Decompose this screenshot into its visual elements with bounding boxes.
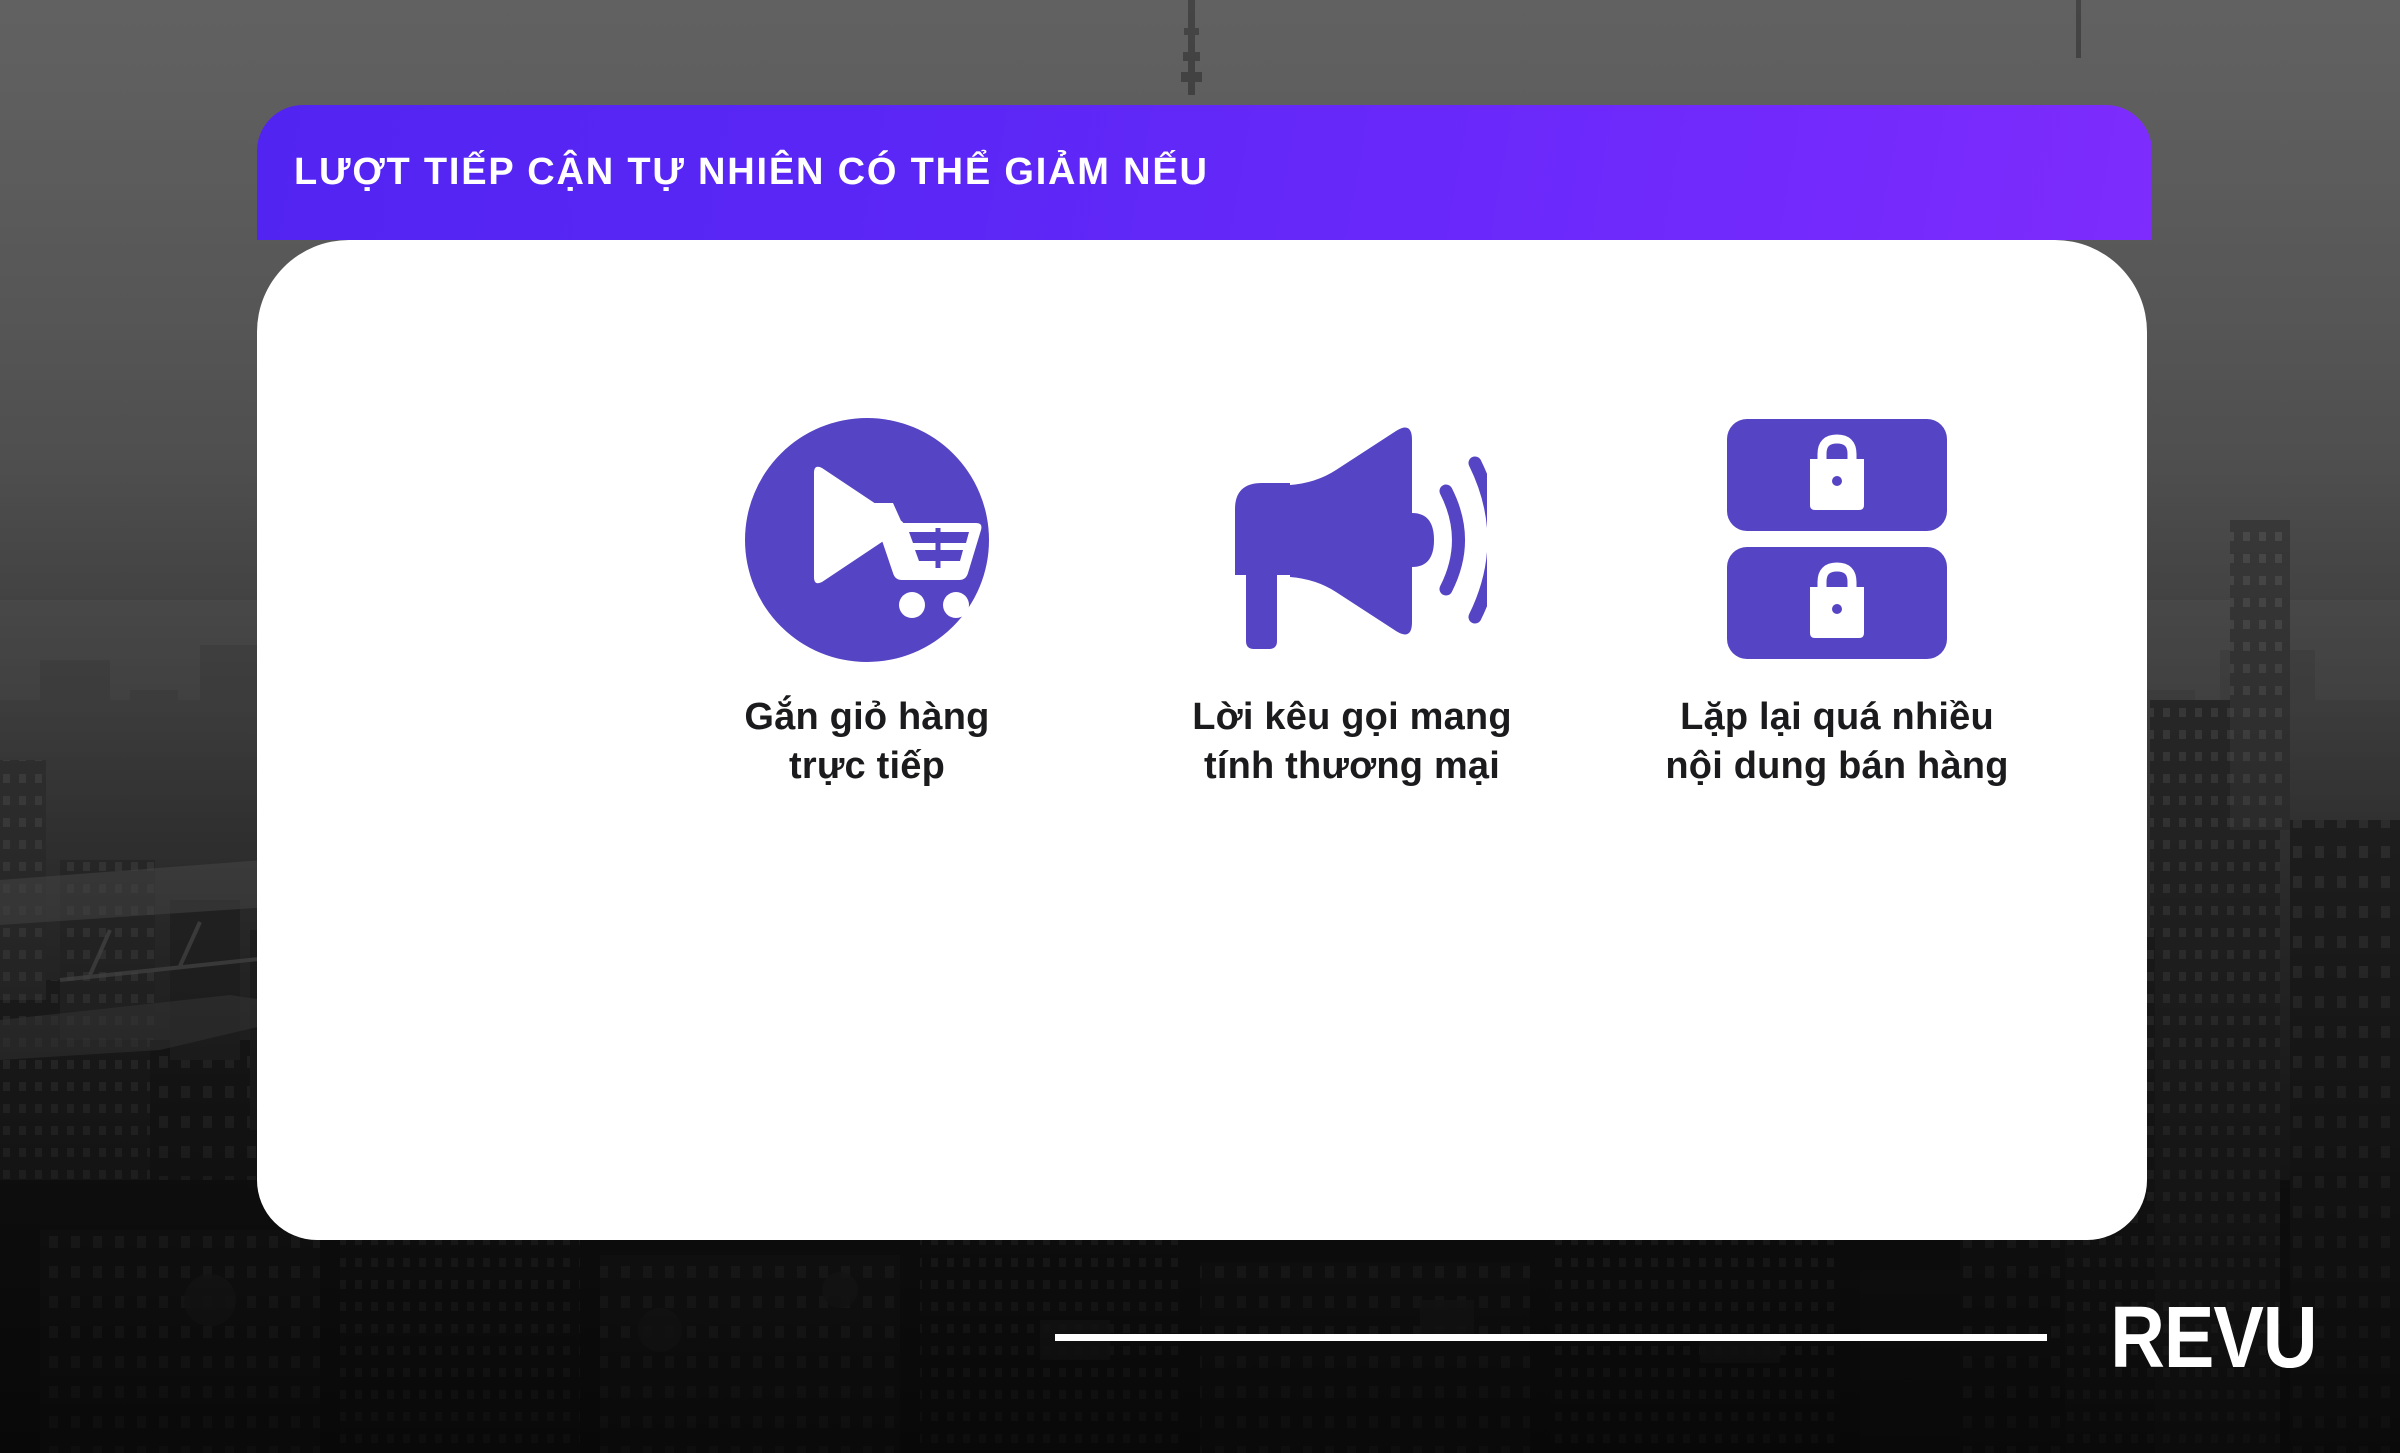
feature-item-commercial-cta: Lời kêu gọi mang tính thương mại [1142,395,1562,790]
page-title: LƯỢT TIẾP CẬN TỰ NHIÊN CÓ THỂ GIẢM NẾU [257,151,1209,194]
play-cart-icon [742,395,992,685]
feature-list: Gắn giỏ hàng trực tiếp [657,395,2047,790]
card-header-bar: LƯỢT TIẾP CẬN TỰ NHIÊN CÓ THỂ GIẢM NẾU [257,105,2152,240]
feature-label: Gắn giỏ hàng trực tiếp [702,693,1032,790]
feature-item-repeated-sales-content: Lặp lại quá nhiều nội dung bán hàng [1627,395,2047,790]
feature-label: Lặp lại quá nhiều nội dung bán hàng [1627,693,2047,790]
content-card: LƯỢT TIẾP CẬN TỰ NHIÊN CÓ THỂ GIẢM NẾU [257,105,2152,1240]
card-body: Gắn giỏ hàng trực tiếp [257,240,2147,1240]
stacked-shopping-bags-icon [1722,395,1952,685]
footer-divider-rule [1055,1334,2047,1341]
feature-item-live-cart: Gắn giỏ hàng trực tiếp [657,395,1077,790]
footer: REVU [1055,1292,2320,1382]
megaphone-icon [1217,395,1487,685]
revu-brand-logo: REVU [2110,1293,2316,1380]
feature-label: Lời kêu gọi mang tính thương mại [1152,693,1552,790]
